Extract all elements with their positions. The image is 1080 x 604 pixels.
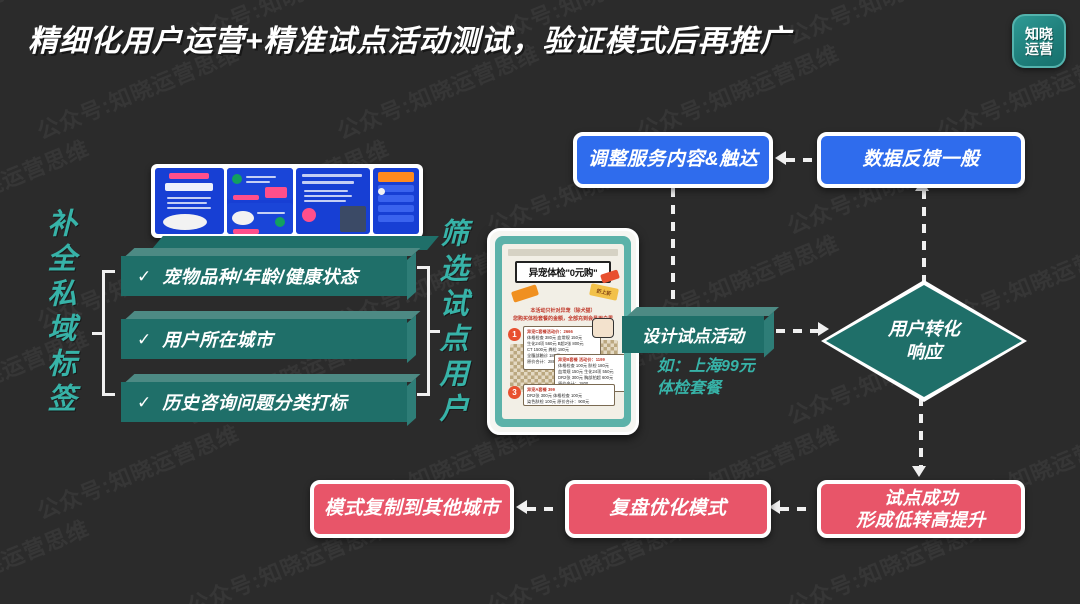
flow-node-review-optimize[interactable]: 复盘优化模式 bbox=[565, 480, 771, 538]
arrow-down-icon bbox=[912, 466, 926, 477]
success-label-line-1: 试点成功 bbox=[856, 487, 986, 510]
poster-ribbon bbox=[511, 284, 539, 302]
check-icon: ✓ bbox=[137, 394, 151, 411]
checklist-item-label: 用户所在城市 bbox=[162, 326, 273, 352]
arrow-left-icon bbox=[775, 151, 786, 165]
flow-node-pilot-success[interactable]: 试点成功 形成低转高提升 bbox=[817, 480, 1025, 538]
decision-label-line-2: 响应 bbox=[906, 341, 942, 364]
checklist-item-1[interactable]: ✓ 用户所在城市 bbox=[121, 311, 407, 351]
checklist-item-0[interactable]: ✓ 宠物品种/年龄/健康状态 bbox=[121, 248, 407, 288]
decision-label-line-1: 用户转化 bbox=[888, 318, 960, 341]
checklist-item-2[interactable]: ✓ 历史咨询问题分类打标 bbox=[121, 374, 407, 414]
connector-success-to-review bbox=[780, 507, 814, 511]
poster-hand-icon bbox=[592, 318, 614, 338]
flow-node-adjust-service[interactable]: 调整服务内容&触达 bbox=[573, 132, 773, 188]
checklist-item-label: 宠物品种/年龄/健康状态 bbox=[162, 263, 358, 289]
connector-design-to-decision bbox=[776, 329, 818, 333]
checklist-item-label: 历史咨询问题分类打标 bbox=[162, 389, 347, 415]
check-icon: ✓ bbox=[137, 331, 151, 348]
poster-price-panel-3: 异宠A套餐 399 DR2张 300元 体格检查 100元 染色肤检 100元 … bbox=[523, 384, 615, 406]
poster-badge-3: 3 bbox=[508, 386, 521, 399]
collage-card-4 bbox=[373, 168, 419, 234]
logo-line-1: 知晓 bbox=[1025, 27, 1053, 41]
connector-decision-to-feedback bbox=[922, 190, 926, 286]
brand-logo: 知晓 运营 bbox=[1012, 14, 1066, 68]
campaign-poster-image: 异宠体检"0元购" 折上折 本活动只针对异宠（除犬猫） 您购买体检套餐的金额，全… bbox=[487, 228, 639, 435]
poster-badge-1: 1 bbox=[508, 328, 521, 341]
flow-node-replicate-cities[interactable]: 模式复制到其他城市 bbox=[310, 480, 514, 538]
connector-feedback-to-adjust bbox=[786, 158, 818, 162]
arrow-left-icon bbox=[516, 500, 527, 514]
flow-node-design-pilot[interactable]: 设计试点活动 bbox=[622, 307, 764, 353]
poster-subtitle-1: 本活动只针对异宠（除犬猫） bbox=[511, 307, 615, 314]
poster-sheet: 异宠体检"0元购" 折上折 本活动只针对异宠（除犬猫） 您购买体检套餐的金额，全… bbox=[502, 244, 624, 419]
design-pilot-note: 如：上海99元 体检套餐 bbox=[657, 356, 807, 399]
poster-top-bar bbox=[508, 249, 618, 256]
poster-inner-frame: 异宠体检"0元购" 折上折 本活动只针对异宠（除犬猫） 您购买体检套餐的金额，全… bbox=[495, 236, 631, 427]
section-label-mid: 筛选试点用户 bbox=[436, 218, 465, 428]
panel-row: 染色肤检 100元 原价合计：900元 bbox=[527, 399, 611, 405]
connector-adjust-to-design bbox=[671, 188, 675, 309]
slide-canvas: 公众号:知晓运营思维公众号:知晓运营思维公众号:知晓运营思维公众号:知晓运营思维… bbox=[0, 0, 1080, 604]
collage-card-1 bbox=[155, 168, 224, 234]
logo-line-2: 运营 bbox=[1025, 42, 1053, 56]
success-label-line-2: 形成低转高提升 bbox=[856, 509, 986, 532]
connector-decision-to-success bbox=[919, 397, 923, 469]
header: 精细化用户运营+精准试点活动测试，验证模式后再推广 知晓 运营 bbox=[0, 0, 1080, 86]
bracket-left bbox=[102, 270, 118, 396]
watermark-text: 公众号:知晓运营思维 bbox=[32, 416, 244, 526]
bracket-right bbox=[414, 266, 430, 396]
page-title: 精细化用户运营+精准试点活动测试，验证模式后再推广 bbox=[28, 16, 791, 60]
collage-card-3 bbox=[296, 168, 370, 234]
check-icon: ✓ bbox=[137, 268, 151, 285]
flow-node-data-feedback[interactable]: 数据反馈一般 bbox=[817, 132, 1025, 188]
flow-node-decision-conversion[interactable]: 用户转化 响应 bbox=[826, 285, 1022, 397]
collage-card-2 bbox=[227, 168, 294, 234]
poster-stamp: 折上折 bbox=[589, 283, 619, 301]
poster-headline: 异宠体检"0元购" bbox=[515, 261, 611, 283]
watermark-text: 公众号:知晓运营思维 bbox=[0, 511, 93, 604]
section-label-left: 补全私域标签 bbox=[44, 208, 73, 418]
marketing-collage-image bbox=[151, 164, 423, 238]
connector-review-to-replicate bbox=[527, 507, 561, 511]
flow-node-design-pilot-label: 设计试点活动 bbox=[622, 316, 764, 353]
